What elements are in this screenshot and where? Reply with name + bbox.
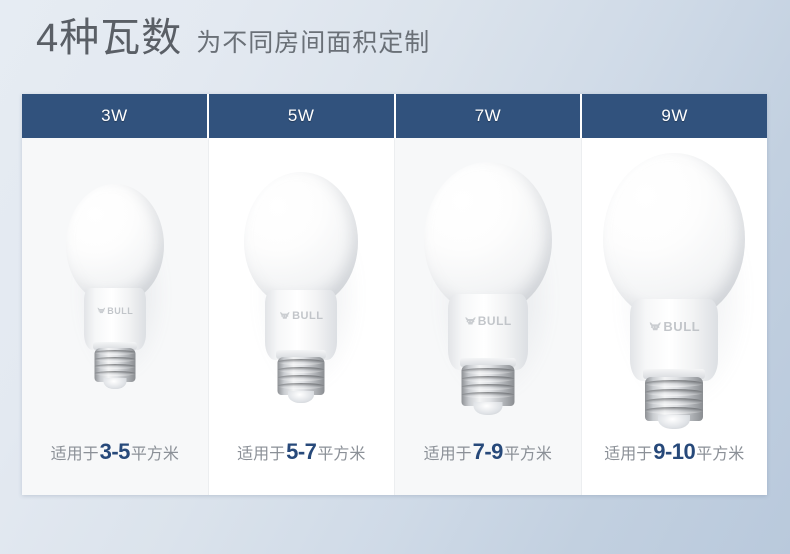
bulb-tip <box>473 402 502 415</box>
bull-head-icon <box>464 315 476 327</box>
bulb-thread <box>94 350 135 355</box>
bulb-image-7w: BULL <box>424 162 552 412</box>
bulb-thread <box>278 383 325 389</box>
wattage-comparison-table: 3W 5W 7W 9W <box>22 94 767 495</box>
bulb-image-5w: BULL <box>244 172 358 402</box>
column-header-5w: 5W <box>209 94 396 138</box>
bulb-logo: BULL <box>464 314 512 328</box>
bulb-thread <box>461 368 514 374</box>
caption-suffix: 平方米 <box>504 446 552 463</box>
bulb-thread <box>94 371 135 376</box>
bulb-globe <box>424 162 552 312</box>
bulb-thread <box>278 375 325 381</box>
product-cell-5w[interactable]: BULL 适用于5-7平方米 <box>209 138 396 495</box>
bulb-image-3w-wrap: BULL <box>22 138 208 439</box>
caption-range: 3-5 <box>99 439 131 464</box>
bulb-thread <box>645 389 703 396</box>
bulb-image-3w: BULL <box>66 184 164 390</box>
table-header-row: 3W 5W 7W 9W <box>22 94 767 138</box>
bulb-screw-base <box>94 348 135 382</box>
caption-suffix: 平方米 <box>696 446 744 463</box>
bulb-tip <box>658 415 690 429</box>
bulb-neck <box>84 288 146 350</box>
caption-range: 7-9 <box>472 439 504 464</box>
bull-head-icon <box>648 320 661 333</box>
bulb-logo: BULL <box>648 319 700 334</box>
bulb-logo-text: BULL <box>478 314 512 328</box>
column-header-7w: 7W <box>396 94 583 138</box>
bulb-globe <box>66 184 164 302</box>
column-header-3w: 3W <box>22 94 209 138</box>
caption-suffix: 平方米 <box>131 446 179 463</box>
product-spec-banner: 4种瓦数 为不同房间面积定制 3W 5W 7W 9W <box>0 0 790 554</box>
page-title: 4种瓦数 为不同房间面积定制 <box>36 18 430 58</box>
bull-head-icon <box>279 310 290 321</box>
bulb-image-9w: BULL <box>603 153 745 421</box>
bulb-tip <box>288 391 314 403</box>
caption-range: 9-10 <box>652 439 696 464</box>
bulb-logo-text: BULL <box>292 310 323 322</box>
bulb-thread <box>645 380 703 387</box>
column-header-9w: 9W <box>582 94 767 138</box>
page-title-secondary: 为不同房间面积定制 <box>196 31 430 56</box>
product-cell-3w[interactable]: BULL 适用于3-5平方米 <box>22 138 209 495</box>
bulb-image-9w-wrap: BULL <box>582 138 768 439</box>
bulb-logo-text: BULL <box>663 319 700 334</box>
bulb-image-5w-wrap: BULL <box>209 138 395 439</box>
caption-range: 5-7 <box>285 439 317 464</box>
page-title-primary: 4种瓦数 <box>36 18 182 58</box>
bulb-screw-base <box>461 365 514 406</box>
bulb-globe <box>603 153 745 319</box>
bulb-logo: BULL <box>96 306 133 316</box>
bulb-image-7w-wrap: BULL <box>395 138 581 439</box>
caption-9w: 适用于9-10平方米 <box>582 439 768 495</box>
caption-suffix: 平方米 <box>317 446 365 463</box>
bulb-thread <box>645 398 703 405</box>
bulb-thread <box>94 357 135 362</box>
bulb-logo-text: BULL <box>107 306 133 316</box>
bulb-thread <box>461 376 514 382</box>
caption-prefix: 适用于 <box>604 446 652 463</box>
bulb-thread <box>461 392 514 398</box>
bulb-screw-base <box>278 357 325 395</box>
bulb-globe <box>244 172 358 306</box>
caption-prefix: 适用于 <box>51 446 99 463</box>
product-cell-9w[interactable]: BULL 适用于9-10平方米 <box>582 138 768 495</box>
bulb-thread <box>645 407 703 414</box>
bulb-logo: BULL <box>279 310 323 322</box>
table-body-row: BULL 适用于3-5平方米 <box>22 138 767 495</box>
bulb-thread <box>94 364 135 369</box>
product-cell-7w[interactable]: BULL 适用于7-9平方米 <box>395 138 582 495</box>
bull-head-icon <box>96 306 105 315</box>
caption-prefix: 适用于 <box>424 446 472 463</box>
caption-7w: 适用于7-9平方米 <box>395 439 581 495</box>
caption-prefix: 适用于 <box>237 446 285 463</box>
caption-3w: 适用于3-5平方米 <box>22 439 208 495</box>
bulb-thread <box>278 359 325 365</box>
caption-5w: 适用于5-7平方米 <box>209 439 395 495</box>
bulb-tip <box>103 378 126 389</box>
bulb-thread <box>278 367 325 373</box>
bulb-thread <box>461 384 514 390</box>
